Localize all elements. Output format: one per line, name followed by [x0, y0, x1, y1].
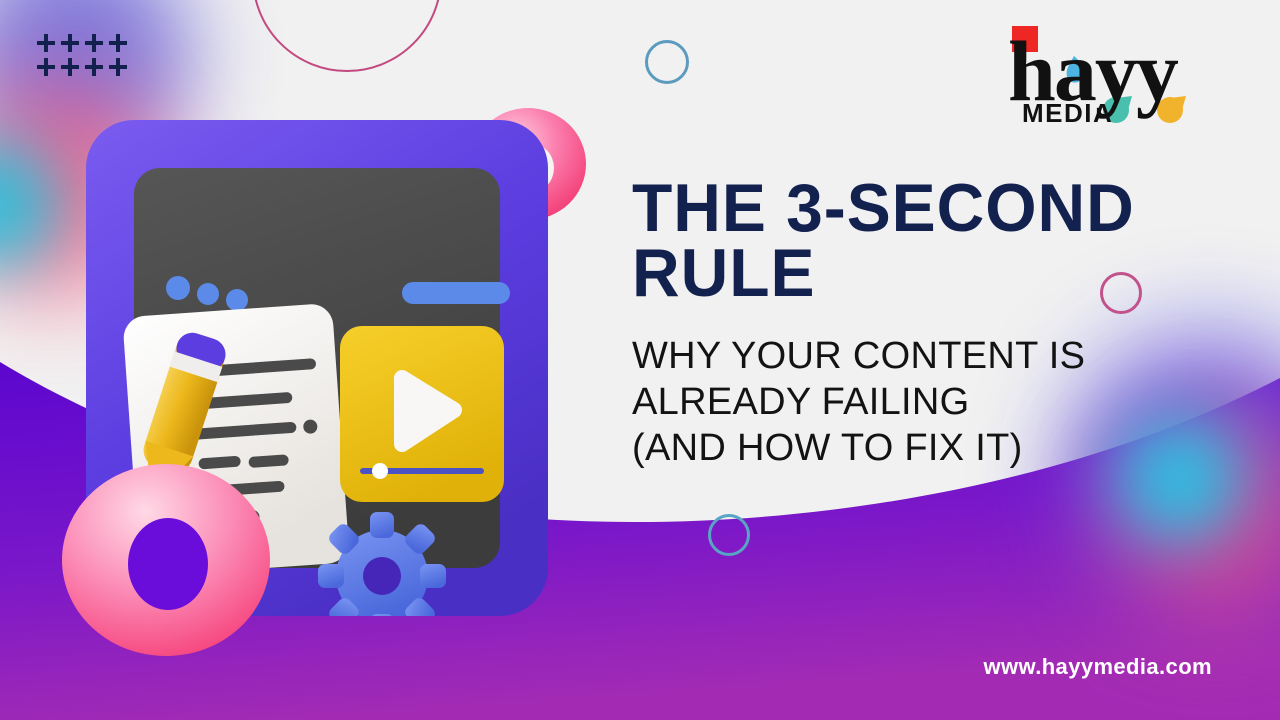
plus-icon [84, 57, 108, 81]
blue-bar [402, 282, 510, 304]
plus-icon [60, 33, 84, 57]
video-card [340, 326, 504, 502]
plus-icon [84, 33, 108, 57]
poster-canvas: hayy MEDIA THE 3-SECOND RULE WHY YOUR CO… [0, 0, 1280, 720]
video-progress-handle [372, 463, 388, 479]
headline-line-2: RULE [632, 241, 1214, 306]
plus-icon [108, 57, 132, 81]
plus-icon [60, 57, 84, 81]
website-url[interactable]: www.hayymedia.com [983, 654, 1212, 680]
subheadline-line-3: (AND HOW TO FIX IT) [632, 425, 1232, 471]
subheadline-line-1: WHY YOUR CONTENT IS [632, 333, 1232, 379]
ring-blue-bottom-icon [708, 514, 750, 556]
page-subtitle: WHY YOUR CONTENT IS ALREADY FAILING (AND… [632, 333, 1232, 472]
plus-icon [36, 33, 60, 57]
plus-icon [36, 57, 60, 81]
window-dot [197, 283, 219, 305]
page-title: THE 3-SECOND RULE [632, 176, 1214, 307]
ring-blue-top-icon [645, 40, 689, 84]
copy-block: THE 3-SECOND RULE WHY YOUR CONTENT IS AL… [632, 176, 1232, 472]
brand-logo[interactable]: hayy MEDIA [998, 22, 1218, 130]
torus-pink-large [58, 458, 278, 658]
subheadline-line-2: ALREADY FAILING [632, 379, 1232, 425]
blob-cyan-top-left [0, 140, 60, 270]
window-dot [166, 276, 190, 300]
plus-icon [108, 33, 132, 57]
window-dot [226, 289, 248, 311]
logo-subtext: MEDIA [1022, 98, 1113, 128]
plus-grid-icon [36, 33, 132, 81]
ring-pink-top-icon [252, 0, 442, 72]
